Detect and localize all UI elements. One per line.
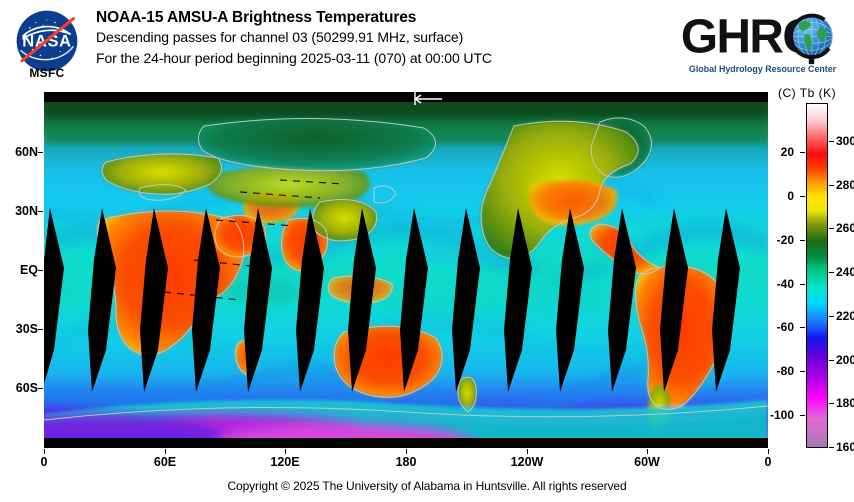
xtick-label-120e: 120E bbox=[270, 455, 299, 469]
cbtick-cm80 bbox=[800, 371, 805, 372]
cblabel-c0: 0 bbox=[787, 189, 794, 203]
ytick-30n bbox=[38, 211, 43, 212]
xtick-120w bbox=[527, 449, 528, 454]
cbtick-160 bbox=[829, 447, 834, 448]
cbtick-cm40 bbox=[800, 284, 805, 285]
page-title: NOAA-15 AMSU-A Brightness Temperatures bbox=[96, 8, 492, 27]
cbtick-260 bbox=[829, 228, 834, 229]
xtick-label-0: 0 bbox=[41, 455, 48, 469]
xtick-label-60e: 60E bbox=[154, 455, 176, 469]
xtick-label-180: 180 bbox=[396, 455, 417, 469]
title-block: NOAA-15 AMSU-A Brightness Temperatures D… bbox=[96, 8, 492, 69]
xtick-label-360: 0 bbox=[765, 455, 772, 469]
ghrc-fullname-text: Global Hydrology Resource Center bbox=[689, 64, 837, 74]
subtitle-period: For the 24-hour period beginning 2025-03… bbox=[96, 48, 492, 69]
ytick-label-60n: 60N bbox=[15, 145, 38, 159]
cblabel-c20: 20 bbox=[781, 145, 794, 159]
cblabel-160: 160 bbox=[836, 440, 854, 454]
brightness-temperature-map[interactable] bbox=[44, 92, 768, 448]
ytick-30s bbox=[38, 329, 43, 330]
cblabel-220: 220 bbox=[836, 309, 854, 323]
xtick-120e bbox=[285, 449, 286, 454]
colorbar-gradient bbox=[807, 104, 827, 447]
xtick-label-60w: 60W bbox=[634, 455, 660, 469]
cblabel-cm60: -60 bbox=[777, 320, 794, 334]
visualization-root: NASA MSFC NOAA-15 AMSU-A Brightness Temp… bbox=[0, 0, 854, 502]
cbtick-cm60 bbox=[800, 327, 805, 328]
cblabel-200: 200 bbox=[836, 353, 854, 367]
ghrc-logo: GHRC Global Hydrology Resource Center bbox=[676, 4, 846, 78]
ytick-label-60s: 60S bbox=[16, 381, 38, 395]
ytick-60s bbox=[38, 388, 43, 389]
cblabel-cm20: -20 bbox=[777, 233, 794, 247]
cbtick-240 bbox=[829, 272, 834, 273]
xtick-360 bbox=[768, 449, 769, 454]
cblabel-300: 300 bbox=[836, 134, 854, 148]
xtick-60e bbox=[165, 449, 166, 454]
ytick-60n bbox=[38, 152, 43, 153]
cbtick-280 bbox=[829, 185, 834, 186]
cblabel-280: 280 bbox=[836, 178, 854, 192]
cbtick-cm20 bbox=[800, 240, 805, 241]
map-canvas bbox=[44, 92, 768, 448]
cblabel-cm80: -80 bbox=[777, 364, 794, 378]
ytick-label-30s: 30S bbox=[16, 322, 38, 336]
cbtick-220 bbox=[829, 316, 834, 317]
cbtick-c20 bbox=[800, 152, 805, 153]
ytick-label-eq: EQ bbox=[20, 263, 38, 277]
cbtick-c0 bbox=[800, 196, 805, 197]
xtick-60w bbox=[647, 449, 648, 454]
xtick-label-120w: 120W bbox=[511, 455, 544, 469]
cblabel-cm100: -100 bbox=[770, 408, 794, 422]
xtick-180 bbox=[406, 449, 407, 454]
cbtick-180 bbox=[829, 403, 834, 404]
cblabel-cm40: -40 bbox=[777, 277, 794, 291]
cblabel-180: 180 bbox=[836, 396, 854, 410]
subtitle-channel: Descending passes for channel 03 (50299.… bbox=[96, 27, 492, 48]
cblabel-260: 260 bbox=[836, 221, 854, 235]
cbtick-cm100 bbox=[800, 415, 805, 416]
ytick-eq bbox=[38, 270, 43, 271]
cblabel-240: 240 bbox=[836, 265, 854, 279]
cbtick-300 bbox=[829, 141, 834, 142]
cbtick-200 bbox=[829, 360, 834, 361]
colorbar-header: (C) Tb (K) bbox=[778, 86, 836, 100]
latitude-axis: 60N 30N EQ 30S 60S bbox=[0, 0, 38, 502]
xtick-0 bbox=[44, 449, 45, 454]
ytick-label-30n: 30N bbox=[15, 204, 38, 218]
copyright-notice: Copyright © 2025 The University of Alaba… bbox=[0, 479, 854, 493]
colorbar[interactable] bbox=[806, 103, 828, 448]
